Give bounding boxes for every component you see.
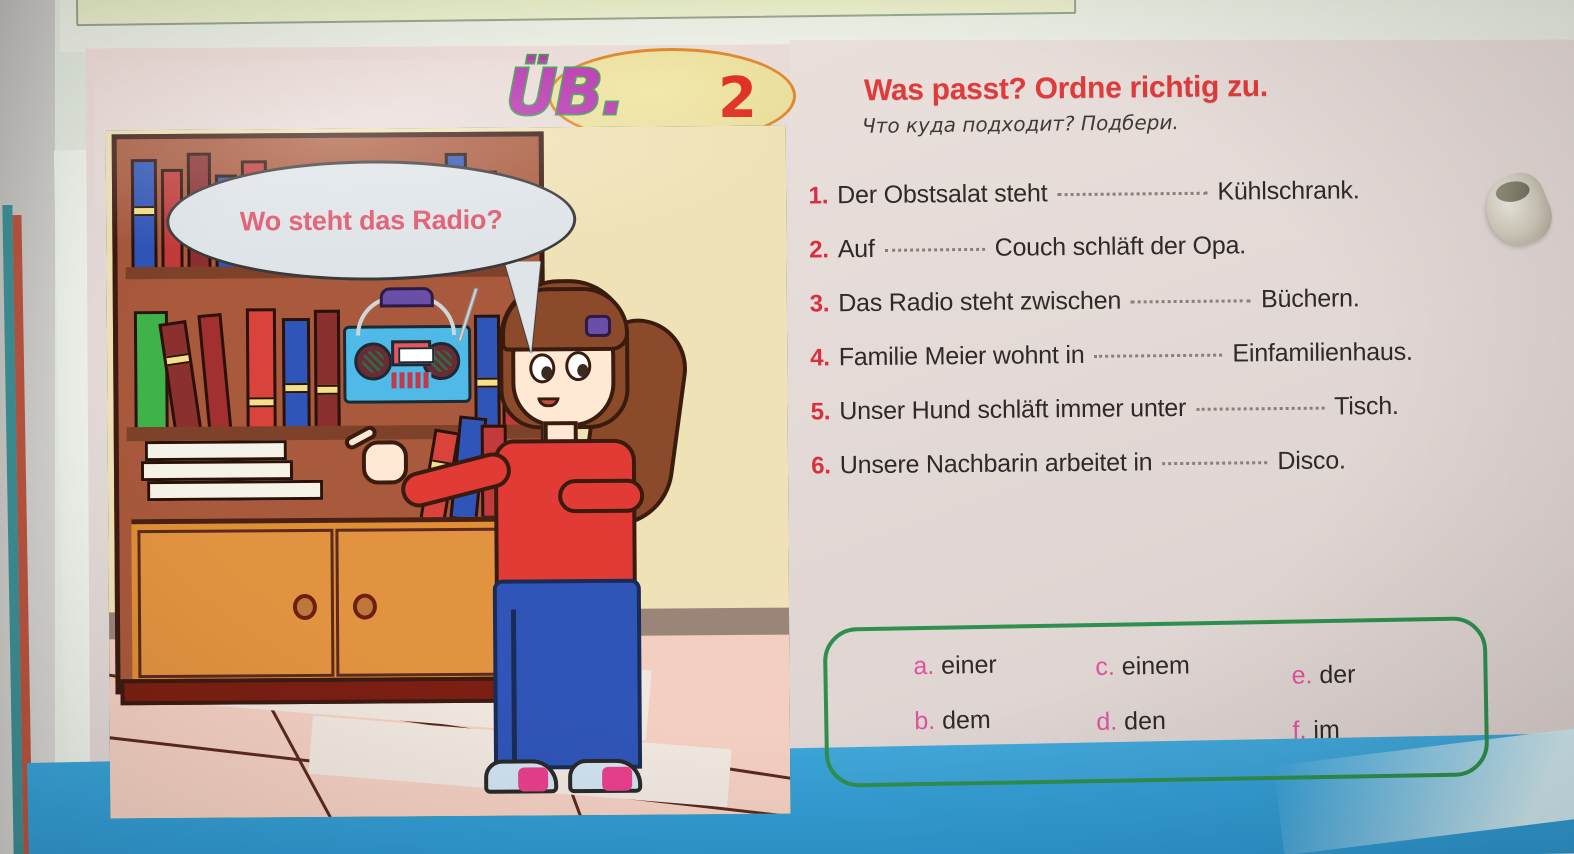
radio-speaker-left: [354, 342, 392, 380]
arm-on-hip: [558, 479, 644, 514]
cabinet-knob: [293, 594, 317, 620]
badge-number: 2: [718, 66, 757, 131]
hand: [362, 440, 408, 484]
hair-tie: [585, 315, 611, 337]
option-letter: f.: [1292, 716, 1306, 744]
item-number: 3.: [810, 290, 830, 318]
exercise-item-5: 5. Unser Hund schläft immer unter Tisch.: [811, 390, 1551, 426]
item-text-after: Kühlschrank.: [1217, 176, 1359, 206]
answer-blank[interactable]: [1162, 461, 1267, 465]
option-word: der: [1319, 661, 1356, 690]
book: [314, 310, 341, 434]
exercise-item-3: 3. Das Radio steht zwischen Büchern.: [809, 282, 1549, 318]
answer-column-2: c. einem d. den: [1095, 651, 1191, 763]
option-letter: d.: [1096, 708, 1117, 736]
book-page-photo: ÜB. 2 Was passt? Ordne richtig zu. Что к…: [0, 0, 1574, 854]
answer-blank[interactable]: [1196, 407, 1324, 411]
item-text-before: Der Obstsalat steht: [837, 179, 1047, 210]
option-word: einer: [941, 651, 997, 680]
stacked-book: [141, 460, 293, 481]
answer-options-box: a. einer b. dem c. einem d. den: [823, 616, 1490, 788]
option-word: im: [1313, 716, 1340, 744]
illustration: Wo steht das Radio?: [106, 126, 791, 819]
item-text-before: Auf: [838, 235, 875, 264]
answer-option-b[interactable]: b. dem: [914, 706, 998, 736]
girl-character: [439, 278, 701, 800]
answer-blank[interactable]: [1057, 192, 1207, 196]
answer-option-f[interactable]: f. im: [1292, 716, 1356, 746]
stacked-books: [141, 440, 321, 503]
cabinet-door-left: [137, 529, 334, 678]
cabinet-knob: [353, 593, 377, 619]
exercise-item-1: 1. Der Obstsalat steht Kühlschrank.: [808, 174, 1548, 210]
item-number: 6.: [811, 452, 831, 480]
item-number: 4.: [810, 344, 830, 372]
book: [131, 159, 158, 271]
exercise-title-german: Was passt? Ordne richtig zu.: [864, 70, 1268, 108]
book: [197, 313, 232, 435]
red-sweater: [494, 439, 637, 592]
item-number: 2.: [809, 236, 829, 264]
exercise-item-2: 2. Auf Couch schläft der Opa.: [809, 228, 1549, 264]
exercise-title-russian: Что куда подходит? Подбери.: [862, 110, 1179, 138]
speech-bubble-text: Wo steht das Radio?: [240, 204, 503, 237]
option-letter: c.: [1095, 653, 1115, 681]
speech-bubble-tail: [505, 261, 542, 353]
illustration-scene: Wo steht das Radio?: [106, 126, 791, 819]
item-number: 1.: [808, 182, 828, 210]
item-text-after: Büchern.: [1261, 284, 1360, 314]
answer-blank[interactable]: [1094, 354, 1222, 358]
exercise-item-6: 6. Unsere Nachbarin arbeitet in Disco.: [811, 444, 1551, 480]
item-number: 5.: [811, 398, 831, 426]
item-text-before: Unsere Nachbarin arbeitet in: [840, 448, 1153, 480]
exercise-sentence-list: 1. Der Obstsalat steht Kühlschrank. 2. A…: [808, 174, 1551, 505]
radio-cassette-deck: [391, 340, 431, 366]
stacked-book: [147, 480, 323, 501]
answer-blank[interactable]: [885, 248, 985, 252]
answer-column-3: e. der f. im: [1291, 661, 1357, 772]
option-word: den: [1124, 707, 1166, 736]
radio-buttons: [391, 372, 431, 388]
option-word: dem: [942, 706, 991, 735]
option-letter: b.: [914, 707, 935, 735]
answer-option-d[interactable]: d. den: [1096, 706, 1191, 737]
option-letter: e.: [1291, 661, 1312, 689]
option-word: einem: [1122, 651, 1191, 680]
answer-option-c[interactable]: c. einem: [1095, 651, 1190, 682]
book: [282, 318, 311, 434]
radio-grip: [380, 287, 434, 307]
answer-option-a[interactable]: a. einer: [913, 651, 997, 681]
stacked-book: [145, 440, 287, 461]
eye-left: [529, 353, 555, 383]
item-text-after: Couch schläft der Opa.: [995, 231, 1247, 262]
shoe-right: [568, 759, 642, 794]
eye-right: [565, 351, 591, 381]
item-text-before: Das Radio steht zwischen: [838, 287, 1121, 319]
item-text-before: Unser Hund schläft immer unter: [839, 394, 1186, 426]
shoe-left: [484, 759, 558, 794]
item-text-before: Familie Meier wohnt in: [839, 341, 1085, 372]
item-text-after: Tisch.: [1334, 392, 1399, 422]
answer-blank[interactable]: [1131, 299, 1251, 303]
exercise-item-4: 4. Familie Meier wohnt in Einfamilienhau…: [810, 336, 1550, 372]
answer-column-1: a. einer b. dem: [913, 651, 998, 762]
item-text-after: Disco.: [1277, 446, 1346, 476]
answer-options-grid: a. einer b. dem c. einem d. den: [827, 620, 1486, 783]
book: [246, 308, 277, 434]
option-letter: a.: [913, 652, 934, 680]
answer-option-e[interactable]: e. der: [1291, 661, 1355, 691]
item-text-after: Einfamilienhaus.: [1232, 338, 1413, 369]
badge-label: ÜB.: [506, 56, 623, 129]
